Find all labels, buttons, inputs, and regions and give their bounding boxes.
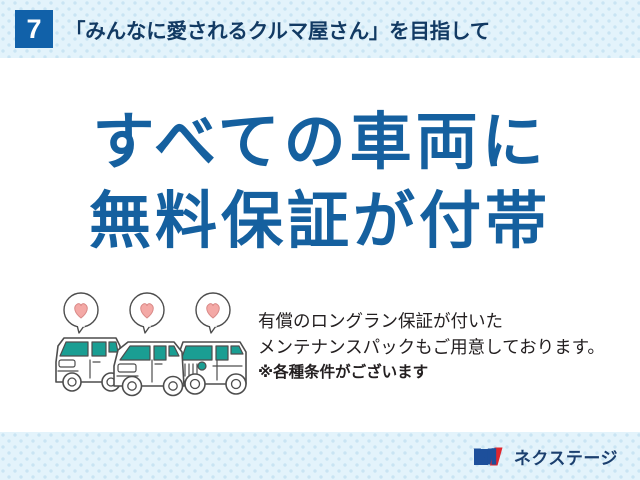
headline-line-1: すべての車両に <box>0 112 640 174</box>
banner-footer: ネクステージ <box>0 432 640 480</box>
nexstage-n-mark-icon <box>472 445 506 467</box>
banner-header: 7 「みんなに愛されるクルマ屋さん」を目指して <box>0 0 640 58</box>
car-kei-wagon <box>56 338 120 391</box>
heart-bubble-3 <box>196 293 230 333</box>
cars-illustration <box>50 290 250 402</box>
body-copy-line-2: メンテナンスパックもご用意しております。 <box>258 334 628 360</box>
heart-bubble-1 <box>64 293 98 333</box>
body-copy: 有償のロングラン保証が付いた メンテナンスパックもご用意しております。 ※各種条… <box>258 308 628 386</box>
brand-logo: ネクステージ <box>472 444 618 469</box>
section-number-badge: 7 <box>15 10 53 48</box>
promo-banner: 7 「みんなに愛されるクルマ屋さん」を目指して すべての車両に 無料保証が付帯 <box>0 0 640 480</box>
body-copy-note: ※各種条件がございます <box>258 360 628 386</box>
headline-line-2: 無料保証が付帯 <box>0 191 640 253</box>
header-title: 「みんなに愛されるクルマ屋さん」を目指して <box>65 14 490 44</box>
body-copy-line-1: 有償のロングラン保証が付いた <box>258 308 628 334</box>
brand-name: ネクステージ <box>514 444 618 469</box>
heart-bubble-2 <box>130 293 164 333</box>
car-minivan <box>114 342 184 396</box>
car-suv <box>178 342 246 394</box>
content-panel: すべての車両に 無料保証が付帯 <box>0 58 640 432</box>
